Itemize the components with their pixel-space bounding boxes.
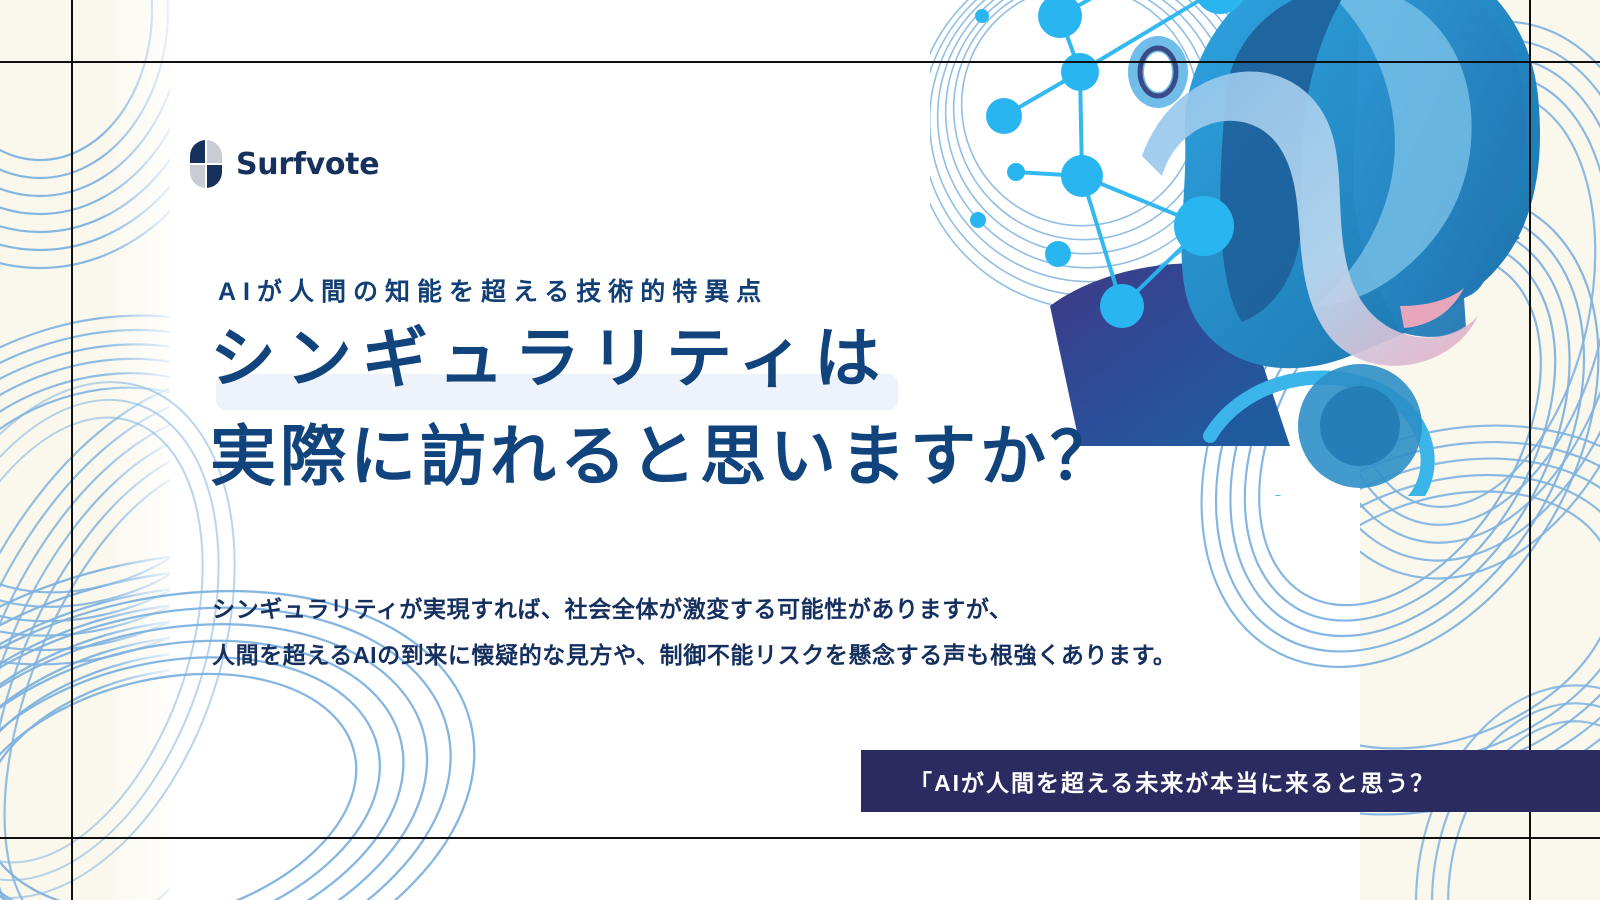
lede-line-2: 人間を超えるAIの到来に懐疑的な見方や、制御不能リスクを懸念する声も根強くありま… (212, 632, 1432, 678)
surfvote-logo-icon (190, 140, 222, 188)
quote-banner: 「AIが人間を超える未来が本当に来ると思う？ (861, 750, 1600, 812)
headline-line-1-text: シンギュラリティは (210, 321, 890, 395)
hero-eyebrow: AIが人間の知能を超える技術的特異点 (218, 272, 768, 308)
hero-headline: シンギュラリティは 実際に訪れると思いますか？ (210, 320, 1410, 494)
brand-name: Surfvote (236, 147, 379, 182)
headline-line-2: 実際に訪れると思いますか？ (210, 418, 1410, 494)
brand-logo[interactable]: Surfvote (190, 140, 379, 188)
hero-lede: シンギュラリティが実現すれば、社会全体が激変する可能性がありますが、 人間を超え… (212, 586, 1432, 678)
headline-line-1: シンギュラリティは (210, 320, 1410, 396)
quote-banner-text: 「AIが人間を超える未来が本当に来ると思う？ (861, 764, 1435, 798)
hero-banner: Surfvote AIが人間の知能を超える技術的特異点 シンギュラリティは 実際… (0, 0, 1600, 900)
lede-line-1: シンギュラリティが実現すれば、社会全体が激変する可能性がありますが、 (212, 586, 1432, 632)
